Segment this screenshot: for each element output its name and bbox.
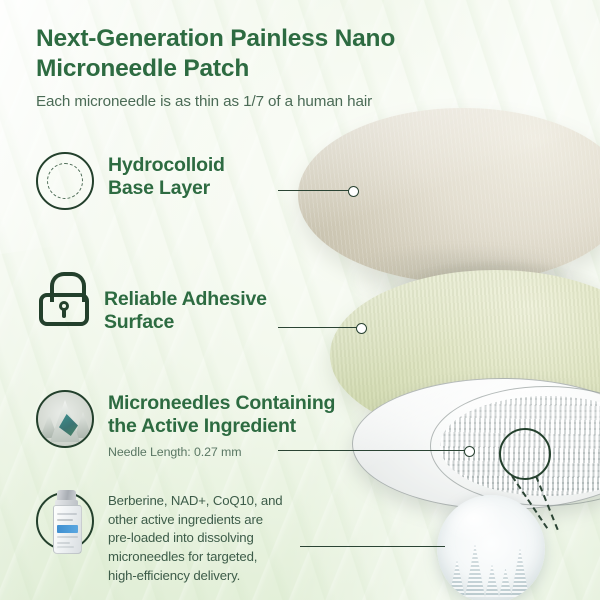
body-line-4: microneedles for targeted, (108, 549, 257, 564)
feature-hydrocolloid-title-line1: Hydrocolloid (108, 154, 225, 176)
feature-hydrocolloid-title: Hydrocolloid Base Layer (108, 154, 225, 201)
page-title-line1: Next-Generation Painless Nano (36, 25, 395, 52)
leader-line-adhesive (278, 327, 360, 328)
needle-length-label: Needle Length: 0.27 mm (108, 445, 335, 459)
feature-hydrocolloid: Hydrocolloid Base Layer (36, 152, 225, 210)
vial-label-band (57, 525, 78, 533)
feature-adhesive-title-line1: Reliable Adhesive (104, 288, 267, 310)
vial-icon (36, 492, 94, 550)
feature-adhesive-title: Reliable Adhesive Surface (104, 288, 267, 335)
feature-hydrocolloid-text: Hydrocolloid Base Layer (108, 152, 225, 201)
feature-microneedles-title-line2: the Active Ingredient (108, 415, 296, 437)
page-subtitle: Each microneedle is as thin as 1/7 of a … (36, 92, 476, 112)
dashed-inner-circle (47, 163, 83, 199)
body-line-2: other active ingredients are (108, 512, 263, 527)
body-line-3: pre-loaded into dissolving (108, 530, 254, 545)
leader-dot-microneedles (464, 446, 475, 457)
active-ingredients-body: Berberine, NAD+, CoQ10, and other active… (108, 492, 282, 586)
microneedle-pyramid-icon (36, 390, 94, 448)
header-block: Next-Generation Painless Nano Microneedl… (36, 24, 476, 112)
page-title: Next-Generation Painless Nano Microneedl… (36, 24, 476, 83)
feature-active-ingredients: Berberine, NAD+, CoQ10, and other active… (36, 492, 282, 586)
padlock-keyhole-stem (62, 309, 65, 318)
vial-body (53, 505, 82, 554)
feature-microneedles-title-line1: Microneedles Containing (108, 392, 335, 414)
feature-hydrocolloid-title-line2: Base Layer (108, 177, 210, 199)
leader-line-active-ingredients (300, 546, 445, 547)
feature-adhesive-text: Reliable Adhesive Surface (104, 272, 267, 335)
feature-microneedles: Microneedles Containing the Active Ingre… (36, 390, 335, 459)
body-line-5: high-efficiency delivery. (108, 568, 240, 583)
infographic-canvas: Next-Generation Painless Nano Microneedl… (0, 0, 600, 600)
leader-line-hydrocolloid (278, 190, 352, 191)
feature-microneedles-title: Microneedles Containing the Active Ingre… (108, 392, 335, 439)
feature-adhesive-title-line2: Surface (104, 311, 174, 333)
vial-graphic (51, 490, 82, 554)
leader-dot-hydrocolloid (348, 186, 359, 197)
page-title-line2: Microneedle Patch (36, 55, 249, 82)
feature-adhesive: Reliable Adhesive Surface (38, 272, 267, 335)
padlock-icon (38, 272, 90, 326)
body-line-1: Berberine, NAD+, CoQ10, and (108, 493, 282, 508)
leader-dot-adhesive (356, 323, 367, 334)
dashed-circle-icon (36, 152, 94, 210)
feature-microneedles-text: Microneedles Containing the Active Ingre… (108, 390, 335, 459)
feature-active-ingredients-text: Berberine, NAD+, CoQ10, and other active… (108, 492, 282, 586)
magnifier-circle-icon (499, 428, 551, 480)
magnified-needle-sphere (437, 495, 545, 600)
